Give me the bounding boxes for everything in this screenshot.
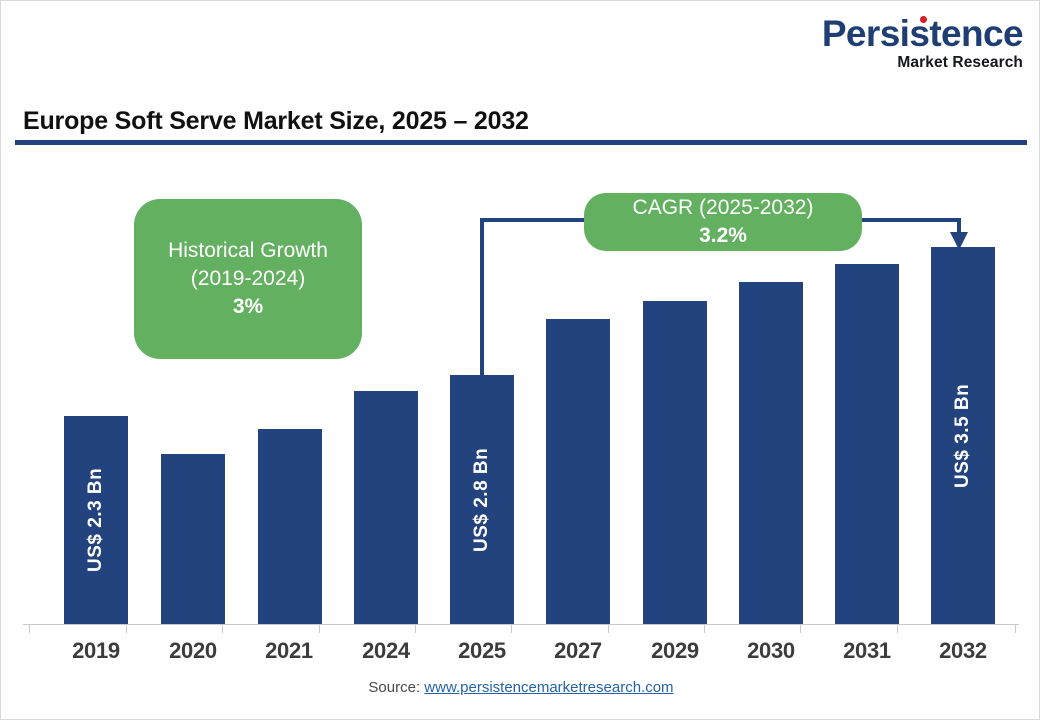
- cagr-callout: CAGR (2025-2032) 3.2%: [584, 193, 862, 251]
- historical-callout-line1: Historical Growth: [168, 237, 328, 265]
- x-axis-tick: [29, 624, 30, 633]
- x-axis-label-2024: 2024: [341, 638, 431, 664]
- historical-callout-line2: (2019-2024): [191, 265, 305, 293]
- bar-2024: [354, 391, 418, 624]
- bar-2031: [835, 264, 899, 624]
- chart-page: Persistence Market Research Europe Soft …: [0, 0, 1040, 720]
- bar-value-label-2025: US$ 2.8 Bn: [450, 393, 514, 606]
- x-axis-label-2021: 2021: [244, 638, 334, 664]
- bar-2032: US$ 3.5 Bn: [931, 247, 995, 624]
- x-axis-tick: [126, 624, 127, 633]
- bar-2029: [643, 301, 707, 624]
- source-label: Source:: [368, 679, 424, 696]
- x-axis-label-2029: 2029: [630, 638, 720, 664]
- x-axis-label-2032: 2032: [918, 638, 1008, 664]
- x-axis-tick: [897, 624, 898, 633]
- bar-2027: [546, 319, 610, 624]
- bar-value-label-2019: US$ 2.3 Bn: [64, 434, 128, 606]
- cagr-callout-line1: CAGR (2025-2032): [633, 194, 814, 222]
- bar-2021: [258, 429, 322, 624]
- x-axis-label-2025: 2025: [437, 638, 527, 664]
- source-link[interactable]: www.persistencemarketresearch.com: [424, 679, 673, 696]
- bar-2025: US$ 2.8 Bn: [450, 375, 514, 624]
- historical-growth-callout: Historical Growth (2019-2024) 3%: [134, 199, 362, 359]
- x-axis-tick: [1015, 624, 1016, 633]
- bar-2020: [161, 454, 225, 624]
- bar-value-label-2032: US$ 3.5 Bn: [931, 265, 995, 606]
- x-axis-tick: [511, 624, 512, 633]
- x-axis-tick: [319, 624, 320, 633]
- x-axis-label-2031: 2031: [822, 638, 912, 664]
- x-axis-label-2030: 2030: [726, 638, 816, 664]
- x-axis-label-2019: 2019: [51, 638, 141, 664]
- historical-callout-value: 3%: [233, 293, 263, 321]
- x-axis-tick: [704, 624, 705, 633]
- x-axis-label-2027: 2027: [533, 638, 623, 664]
- cagr-callout-value: 3.2%: [699, 222, 747, 250]
- bar-chart-plot: US$ 2.3 Bn2019202020212024US$ 2.8 Bn2025…: [1, 1, 1040, 720]
- x-axis-line: [23, 624, 1019, 625]
- source-line: Source: www.persistencemarketresearch.co…: [1, 679, 1040, 696]
- x-axis-tick: [608, 624, 609, 633]
- bar-2030: [739, 282, 803, 624]
- x-axis-tick: [222, 624, 223, 633]
- x-axis-tick: [415, 624, 416, 633]
- x-axis-label-2020: 2020: [148, 638, 238, 664]
- bar-2019: US$ 2.3 Bn: [64, 416, 128, 624]
- x-axis-tick: [800, 624, 801, 633]
